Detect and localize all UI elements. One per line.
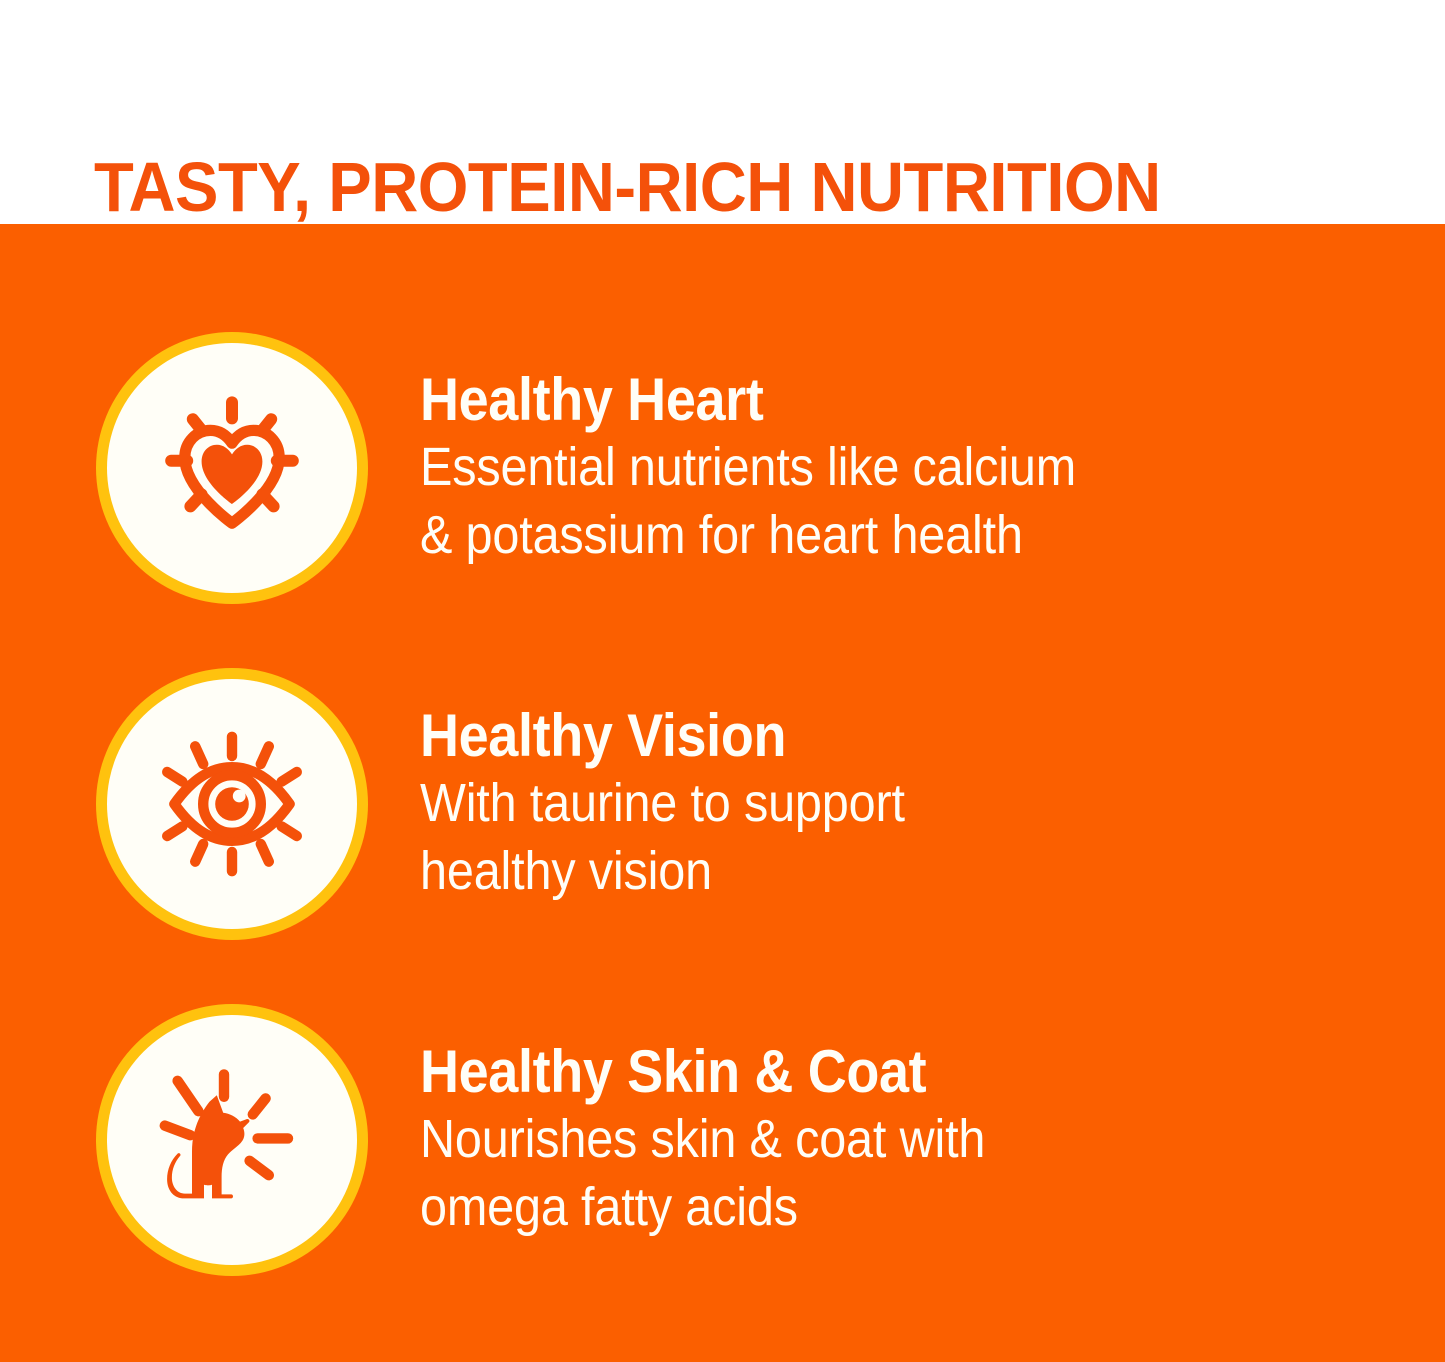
benefit-badge-2 [96,668,368,940]
benefit-text-3: Healthy Skin & Coat Nourishes skin & coa… [420,1039,1445,1241]
benefit-desc-2: With taurine to support healthy vision [420,769,1307,905]
benefit-desc-1-line-2: & potassium for heart health [420,501,1307,569]
headline-line-1: TASTY, PROTEIN-RICH NUTRITION [94,150,1350,224]
benefit-desc-2-line-1: With taurine to support [420,769,1307,837]
benefit-text-1: Healthy Heart Essential nutrients like c… [420,367,1445,569]
benefit-desc-1-line-1: Essential nutrients like calcium [420,433,1307,501]
benefits-panel: Healthy Heart Essential nutrients like c… [0,224,1445,1362]
benefits-infographic: TASTY, PROTEIN-RICH NUTRITION FOR ADULT … [0,0,1445,1362]
radiant-cat-icon [152,1060,312,1220]
benefit-badge-3 [96,1004,368,1276]
benefit-desc-3-line-1: Nourishes skin & coat with [420,1105,1307,1173]
header-band: TASTY, PROTEIN-RICH NUTRITION FOR ADULT … [0,0,1445,224]
benefit-desc-2-line-2: healthy vision [420,837,1307,905]
benefit-row-healthy-vision: Healthy Vision With taurine to support h… [0,636,1445,972]
benefit-desc-3-line-2: omega fatty acids [420,1173,1307,1241]
cat-silhouette [167,1095,249,1198]
radiant-eye-icon [152,724,312,884]
badge-face-3 [107,1015,357,1265]
benefit-desc-3: Nourishes skin & coat with omega fatty a… [420,1105,1307,1241]
benefit-title-2: Healthy Vision [420,703,1307,769]
eye-highlight [233,790,246,803]
benefit-title-1: Healthy Heart [420,367,1307,433]
benefit-desc-1: Essential nutrients like calcium & potas… [420,433,1307,569]
heart-solid [202,445,263,504]
benefit-text-2: Healthy Vision With taurine to support h… [420,703,1445,905]
benefit-title-3: Healthy Skin & Coat [420,1039,1307,1105]
benefit-row-healthy-skin-coat: Healthy Skin & Coat Nourishes skin & coa… [0,972,1445,1308]
badge-face-2 [107,679,357,929]
benefit-row-healthy-heart: Healthy Heart Essential nutrients like c… [0,300,1445,636]
benefit-badge-1 [96,332,368,604]
radiant-heart-icon [152,388,312,548]
benefits-list: Healthy Heart Essential nutrients like c… [0,224,1445,1362]
badge-face-1 [107,343,357,593]
